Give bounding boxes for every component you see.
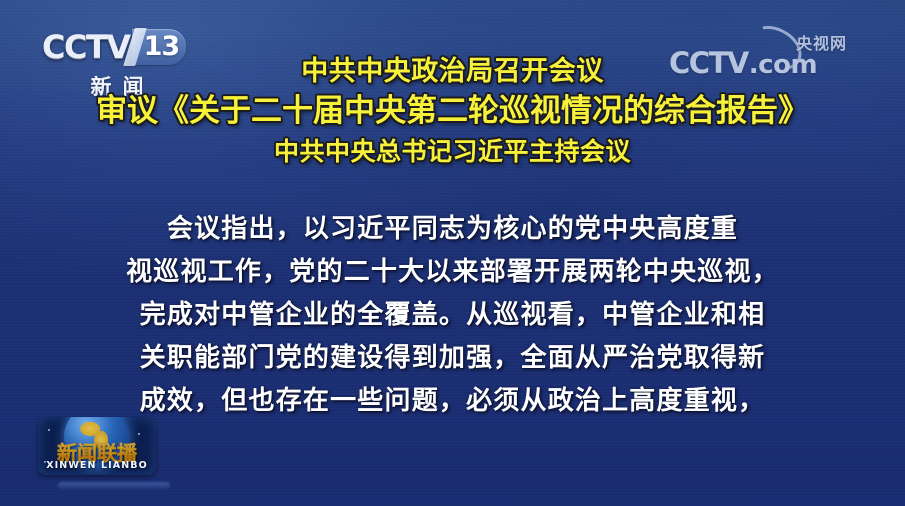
badge-reflection: [58, 482, 170, 490]
headline-line-2: 审议《关于二十届中央第二轮巡视情况的综合报告》: [0, 96, 905, 139]
channel-number: 13: [144, 33, 180, 61]
subtitle-line: 会议指出，以习近平同志为核心的党中央高度重: [0, 208, 905, 251]
subtitle-body-block: 会议指出，以习近平同志为核心的党中央高度重 视巡视工作，党的二十大以来部署开展两…: [0, 208, 905, 423]
subtitle-line: 视巡视工作，党的二十大以来部署开展两轮中央巡视，: [0, 251, 905, 294]
star-icon: [48, 429, 50, 431]
headline-line-1: 中共中央政治局召开会议: [0, 58, 905, 96]
program-badge: 新闻联播 XINWEN LIANBO: [38, 417, 156, 475]
subtitle-line: 关职能部门党的建设得到加强，全面从严治党取得新: [0, 337, 905, 380]
subtitle-line: 完成对中管企业的全覆盖。从巡视看，中管企业和相: [0, 294, 905, 337]
headline-block: 中共中央政治局召开会议 审议《关于二十届中央第二轮巡视情况的综合报告》 中共中央…: [0, 58, 905, 164]
program-name-pinyin: XINWEN LIANBO: [38, 460, 156, 471]
headline-line-3: 中共中央总书记习近平主持会议: [0, 139, 905, 164]
star-icon: [138, 433, 140, 435]
broadcast-screen: CCTV 13 新闻 央视网 CCTV .com 中共中央政治局召开会议 审议《…: [0, 0, 905, 506]
